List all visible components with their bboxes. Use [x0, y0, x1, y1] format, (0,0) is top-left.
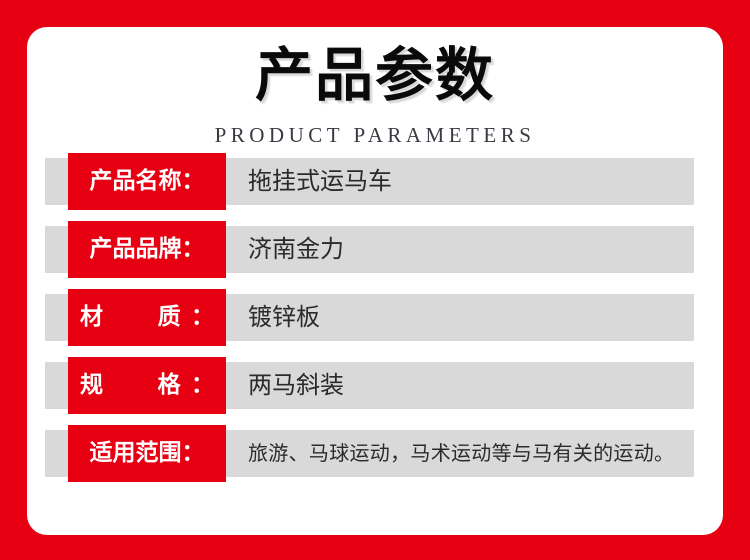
parameter-label-material: 材 质：: [68, 289, 226, 346]
parameter-value-application-scope: 旅游、马球运动，马术运动等与马有关的运动。: [248, 430, 688, 477]
parameter-value-material: 镀锌板: [248, 294, 688, 341]
parameter-label-specification-text: 规 格：: [80, 357, 214, 414]
parameter-label-specification: 规 格：: [68, 357, 226, 414]
parameter-table: 产品名称： 拖挂式运马车 产品品牌： 济南金力 材 质： 镀锌板 规 格： 两马…: [27, 158, 723, 477]
parameter-value-product-brand: 济南金力: [248, 226, 688, 273]
parameter-label-product-brand: 产品品牌：: [68, 221, 226, 278]
white-card-panel: 产品参数 PRODUCT PARAMETERS 产品名称： 拖挂式运马车 产品品…: [27, 27, 723, 535]
table-row: 产品品牌： 济南金力: [45, 226, 694, 273]
table-row: 适用范围： 旅游、马球运动，马术运动等与马有关的运动。: [45, 430, 694, 477]
table-row: 产品名称： 拖挂式运马车: [45, 158, 694, 205]
product-parameters-poster: 产品参数 PRODUCT PARAMETERS 产品名称： 拖挂式运马车 产品品…: [0, 0, 750, 560]
page-title: 产品参数: [27, 42, 723, 108]
parameter-label-material-text: 材 质：: [80, 289, 214, 346]
parameter-label-application-scope: 适用范围：: [68, 425, 226, 482]
parameter-value-product-name: 拖挂式运马车: [248, 158, 688, 205]
page-subtitle: PRODUCT PARAMETERS: [27, 123, 723, 147]
table-row: 材 质： 镀锌板: [45, 294, 694, 341]
parameter-value-specification: 两马斜装: [248, 362, 688, 409]
parameter-label-product-name: 产品名称：: [68, 153, 226, 210]
table-row: 规 格： 两马斜装: [45, 362, 694, 409]
